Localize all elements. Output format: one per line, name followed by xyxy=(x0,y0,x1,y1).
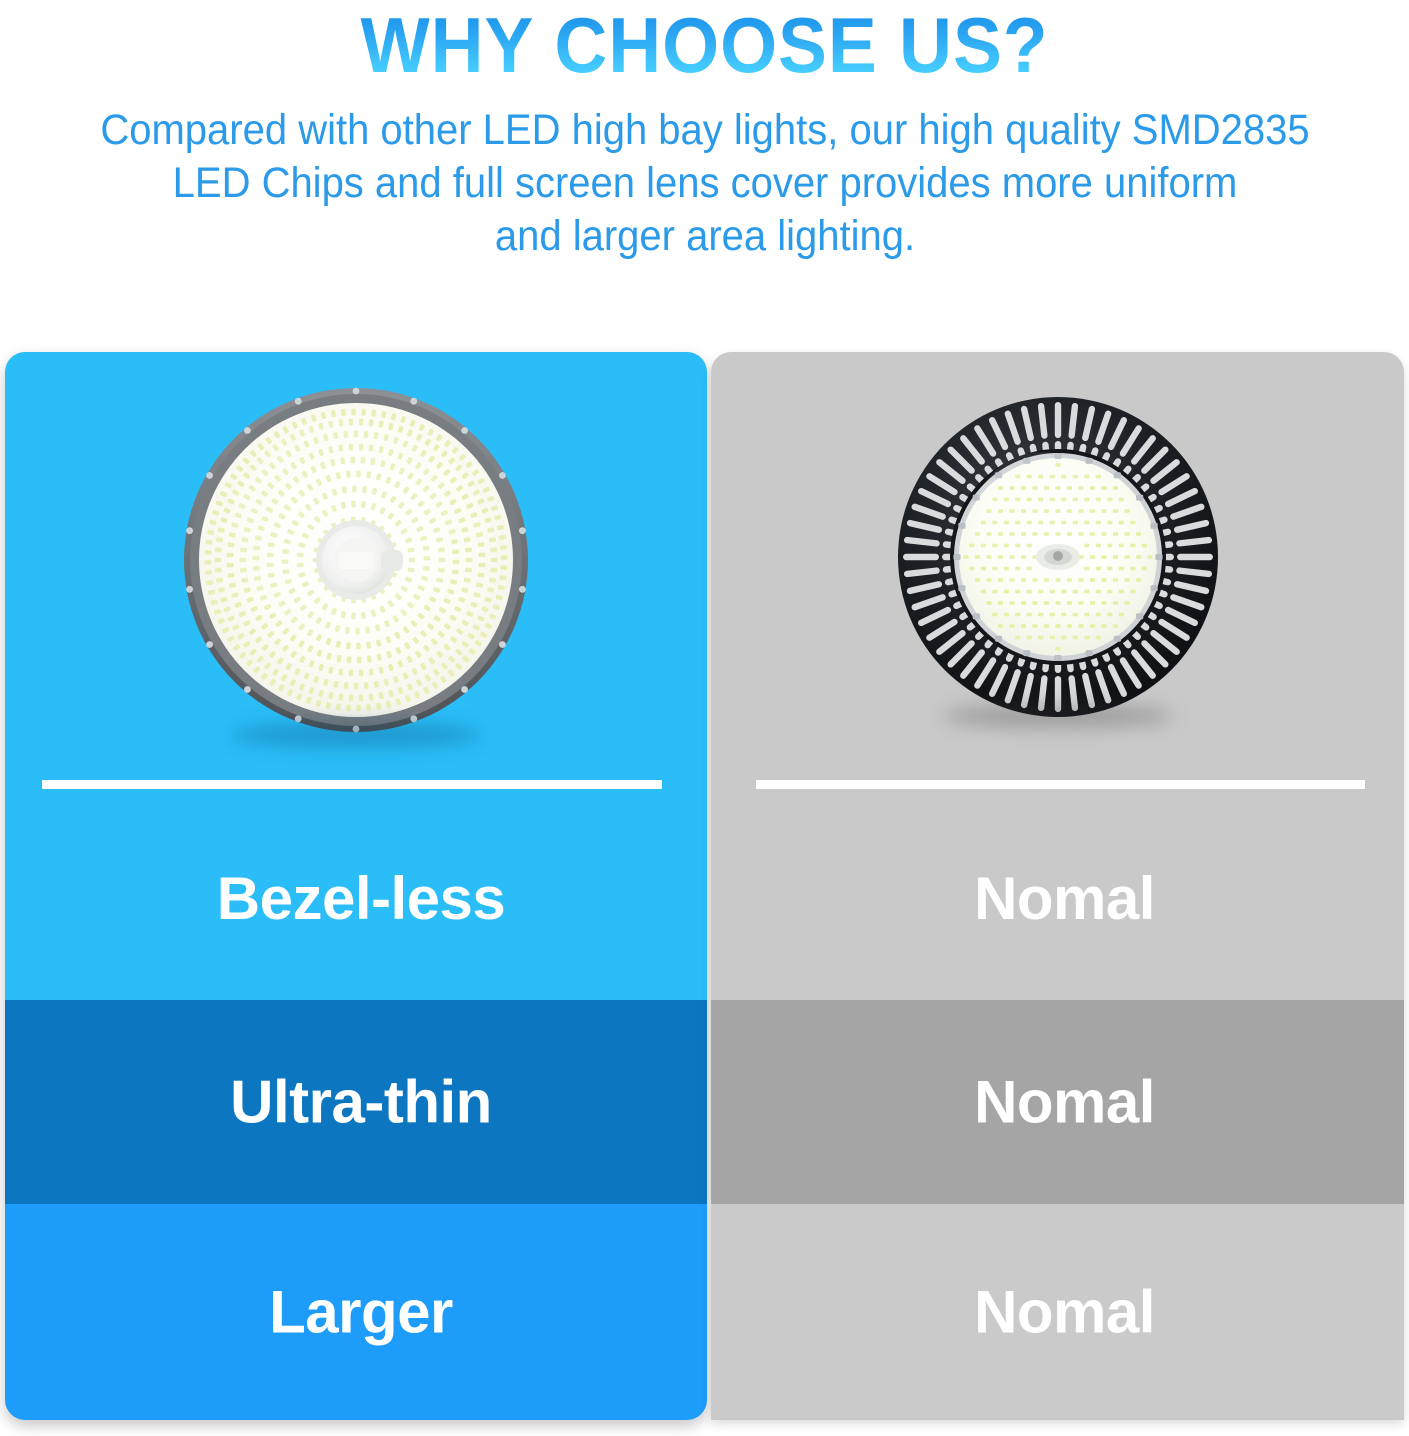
normal-ufo-led-high-bay-light-image xyxy=(893,392,1223,722)
hero-cell-other: Nomal xyxy=(711,352,1404,1000)
feature-label-other-0: Nomal xyxy=(711,1068,1404,1137)
page-title: WHY CHOOSE US? xyxy=(42,0,1366,88)
comparison-column-ours: Bezel-less Ultra-thin Larger xyxy=(5,352,707,1420)
hero-label-ours: Bezel-less xyxy=(5,864,707,933)
feature-row-normal-other-0: Nomal xyxy=(711,1000,1404,1204)
hero-cell-ours: Bezel-less xyxy=(5,352,707,1000)
header: WHY CHOOSE US? Compared with other LED h… xyxy=(0,0,1409,263)
feature-label-ours-0: Ultra-thin xyxy=(5,1068,707,1137)
feature-label-ours-1: Larger xyxy=(5,1278,707,1347)
product-stage-other xyxy=(711,352,1404,782)
product-stage-ours xyxy=(5,352,707,782)
feature-row-larger-ours: Larger xyxy=(5,1204,707,1420)
page-subtitle: Compared with other LED high bay lights,… xyxy=(81,88,1327,263)
product-shadow xyxy=(943,704,1173,728)
led-disc-graphic xyxy=(176,380,536,740)
ufo-lamp-graphic xyxy=(893,392,1223,722)
comparison-board: Bezel-less Ultra-thin Larger xyxy=(0,352,1409,1427)
feature-row-normal-other-1: Nomal xyxy=(711,1204,1404,1420)
hero-divider xyxy=(756,780,1365,789)
product-shadow xyxy=(231,722,481,748)
feature-row-ultra-thin-ours: Ultra-thin xyxy=(5,1000,707,1204)
feature-label-other-1: Nomal xyxy=(711,1278,1404,1347)
hero-divider xyxy=(42,780,662,789)
bezel-less-led-high-bay-light-image xyxy=(176,380,536,740)
hero-label-other: Nomal xyxy=(711,864,1404,933)
comparison-column-other: Nomal Nomal Nomal xyxy=(711,352,1404,1420)
